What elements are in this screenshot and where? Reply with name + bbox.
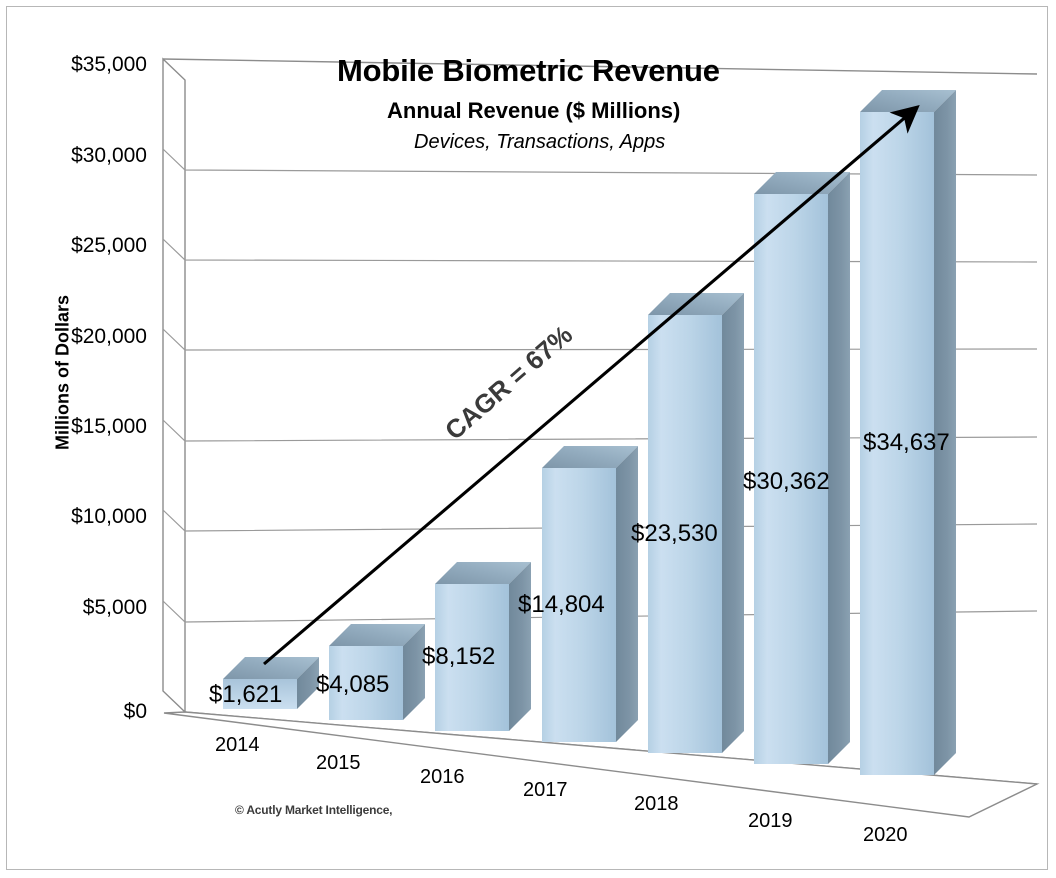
- x-tick-2015: 2015: [316, 752, 361, 775]
- y-tick-10000: $10,000: [7, 505, 147, 529]
- chart-title: Mobile Biometric Revenue: [337, 53, 720, 89]
- data-label-2015: $4,085: [316, 671, 389, 699]
- data-label-2019: $30,362: [743, 468, 830, 496]
- x-tick-2016: 2016: [420, 766, 465, 789]
- chart-subtitle: Annual Revenue ($ Millions): [387, 98, 680, 124]
- chart-container: Millions of Dollars $35,000 $30,000 $25,…: [6, 6, 1048, 870]
- plot-left-wall: [163, 59, 185, 712]
- y-tick-0: $0: [7, 700, 147, 724]
- data-label-2017: $14,804: [518, 591, 605, 619]
- data-label-2020: $34,637: [863, 429, 950, 457]
- y-tick-25000: $25,000: [7, 234, 147, 258]
- y-tick-30000: $30,000: [7, 144, 147, 168]
- data-label-2018: $23,530: [631, 520, 718, 548]
- data-label-2016: $8,152: [422, 643, 495, 671]
- copyright-credit: © Acutly Market Intelligence,: [235, 803, 392, 817]
- chart-sub-subtitle: Devices, Transactions, Apps: [414, 131, 665, 154]
- x-tick-2018: 2018: [634, 793, 679, 816]
- y-tick-5000: $5,000: [7, 596, 147, 620]
- x-tick-2014: 2014: [215, 734, 260, 757]
- y-axis-title: Millions of Dollars: [53, 273, 74, 473]
- y-tick-20000: $20,000: [7, 325, 147, 349]
- x-tick-2020: 2020: [863, 824, 908, 847]
- y-tick-15000: $15,000: [7, 415, 147, 439]
- y-tick-35000: $35,000: [7, 53, 147, 77]
- x-tick-2019: 2019: [748, 810, 793, 833]
- x-tick-2017: 2017: [523, 779, 568, 802]
- data-label-2014: $1,621: [209, 681, 282, 709]
